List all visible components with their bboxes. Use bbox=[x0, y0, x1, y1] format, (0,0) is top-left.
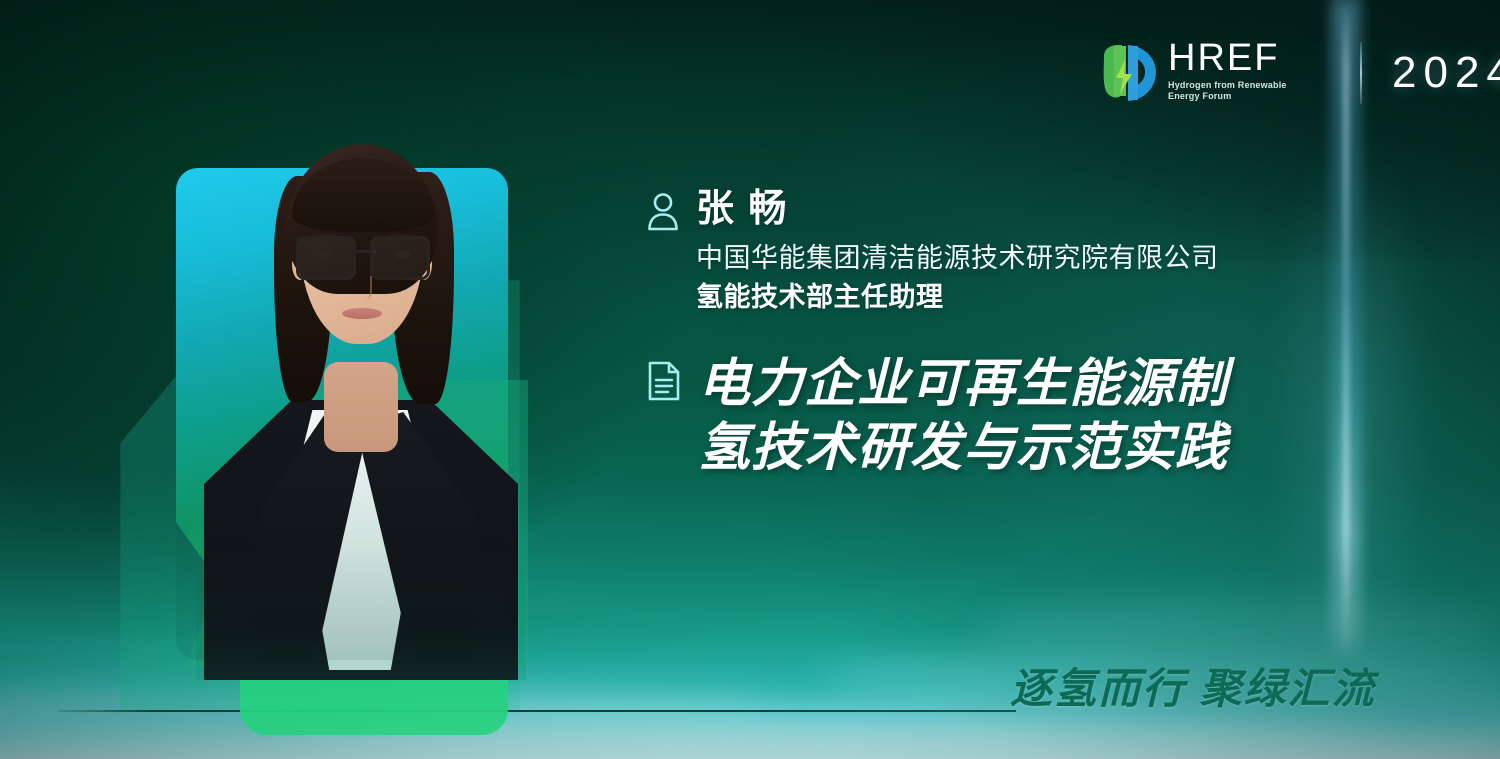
href-logo-title: HREF bbox=[1168, 38, 1287, 78]
document-icon bbox=[646, 352, 682, 407]
href-hydrogen-logo-icon bbox=[1092, 40, 1162, 106]
speaker-text: 张 畅 中国华能集团清洁能源技术研究院有限公司 氢能技术部主任助理 bbox=[696, 186, 1219, 316]
topic-line-2: 氢技术研发与示范实践 bbox=[698, 416, 1228, 480]
event-year: 2024 bbox=[1392, 50, 1500, 96]
href-logo-subtitle-line2: Energy Forum bbox=[1168, 91, 1287, 102]
poster-stage: HREF Hydrogen from Renewable Energy Foru… bbox=[0, 0, 1500, 759]
event-slogan: 逐氢而行 聚绿汇流 bbox=[1010, 663, 1376, 715]
divider-line bbox=[58, 710, 1016, 712]
person-icon bbox=[646, 186, 680, 237]
href-logo: HREF Hydrogen from Renewable Energy Foru… bbox=[1092, 38, 1452, 110]
href-logo-subtitle: Hydrogen from Renewable Energy Forum bbox=[1168, 80, 1287, 102]
speaker-name: 张 畅 bbox=[696, 186, 1219, 232]
href-logo-wordmark: HREF Hydrogen from Renewable Energy Foru… bbox=[1168, 38, 1287, 102]
speaker-organization: 中国华能集团清洁能源技术研究院有限公司 bbox=[696, 238, 1219, 278]
speaker-role: 氢能技术部主任助理 bbox=[696, 278, 1219, 316]
topic-line-1: 电力企业可再生能源制 bbox=[698, 352, 1228, 416]
speaker-info-block: 张 畅 中国华能集团清洁能源技术研究院有限公司 氢能技术部主任助理 电力企业可再… bbox=[646, 186, 1456, 480]
portrait-block bbox=[120, 80, 600, 680]
speaker-row: 张 畅 中国华能集团清洁能源技术研究院有限公司 氢能技术部主任助理 bbox=[646, 186, 1456, 316]
topic-row: 电力企业可再生能源制 氢技术研发与示范实践 bbox=[646, 352, 1456, 480]
logo-divider bbox=[1360, 42, 1362, 104]
href-logo-subtitle-line1: Hydrogen from Renewable bbox=[1168, 80, 1287, 91]
topic-text: 电力企业可再生能源制 氢技术研发与示范实践 bbox=[698, 352, 1228, 480]
portrait-frame-veil bbox=[176, 168, 508, 660]
